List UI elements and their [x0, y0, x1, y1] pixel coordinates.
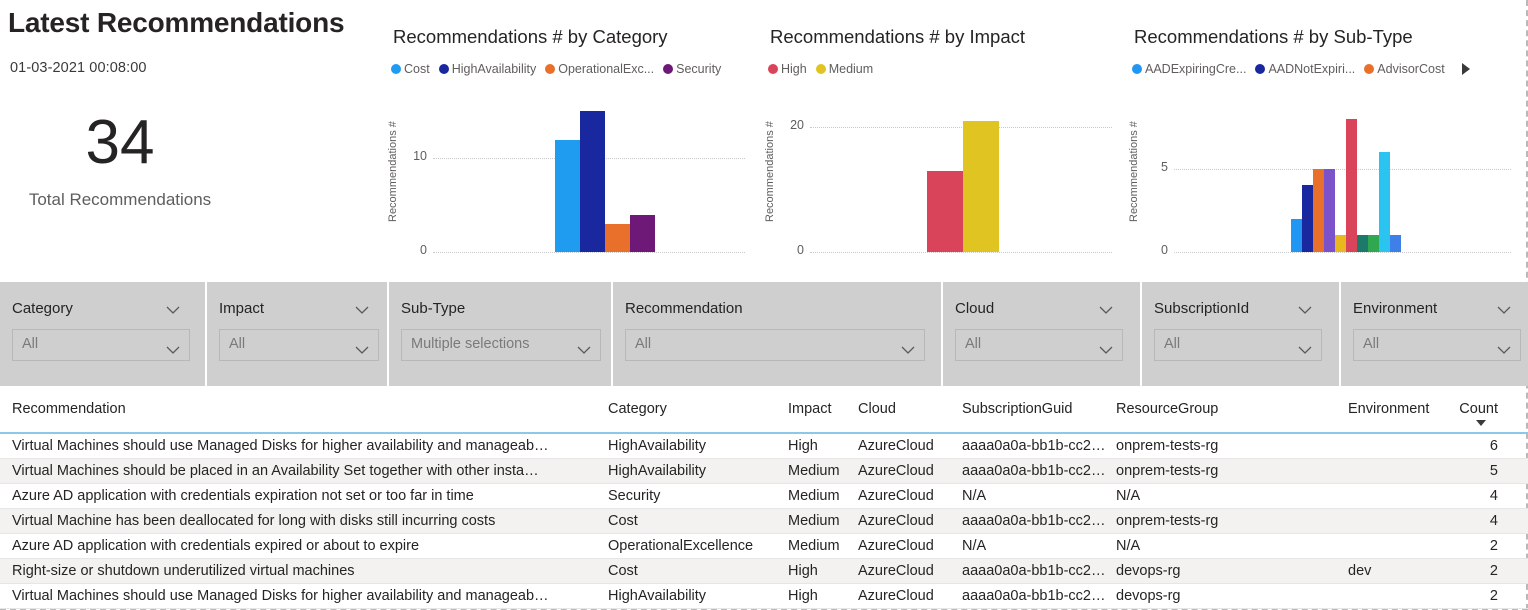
filter-card-category: CategoryAll [0, 282, 205, 386]
cell-count: 4 [1440, 484, 1498, 508]
filter-card-environment: EnvironmentAll [1341, 282, 1528, 386]
y-axis-tick-label: 5 [1138, 160, 1168, 174]
legend-item-label: AADNotExpiri... [1268, 62, 1355, 76]
legend-item[interactable]: HighAvailability [439, 62, 537, 76]
filter-selected-value: All [22, 336, 38, 352]
kpi-card: Latest Recommendations 01-03-2021 00:08:… [0, 0, 385, 280]
legend-swatch-dot-icon [545, 64, 555, 74]
legend-swatch-dot-icon [768, 64, 778, 74]
chart-title: Recommendations # by Category [393, 26, 668, 48]
filter-label: Environment [1353, 300, 1437, 317]
top-visual-band: Latest Recommendations 01-03-2021 00:08:… [0, 0, 1528, 280]
filter-label: Impact [219, 300, 264, 317]
sort-descending-caret-icon [1476, 420, 1486, 426]
legend-item[interactable]: Cost [391, 62, 430, 76]
cell-resource-group: onprem-tests-rg [1116, 509, 1336, 533]
legend-item-label: Cost [404, 62, 430, 76]
gridline [810, 252, 1112, 253]
column-header-environment[interactable]: Environment [1348, 398, 1444, 420]
chevron-down-icon[interactable] [355, 341, 369, 349]
bar[interactable] [1390, 235, 1401, 252]
legend-swatch-dot-icon [1132, 64, 1142, 74]
page-title: Latest Recommendations [8, 7, 344, 39]
chevron-right-icon[interactable] [1462, 63, 1470, 75]
legend-swatch-dot-icon [439, 64, 449, 74]
chevron-down-icon[interactable] [1497, 341, 1511, 349]
filter-dropdown-recommendation[interactable]: All [625, 329, 925, 361]
bar-series [1291, 119, 1401, 252]
y-axis-tick-label: 10 [397, 149, 427, 163]
legend-swatch-dot-icon [1255, 64, 1265, 74]
filter-strip: CategoryAllImpactAllSub-TypeMultiple sel… [0, 282, 1528, 386]
legend-swatch-dot-icon [816, 64, 826, 74]
cell-resource-group: onprem-tests-rg [1116, 434, 1336, 458]
bar[interactable] [1335, 235, 1346, 252]
legend-item[interactable]: AdvisorCost [1364, 62, 1444, 76]
cell-impact: High [788, 559, 852, 583]
bar[interactable] [1313, 169, 1324, 252]
bar[interactable] [963, 121, 999, 252]
filter-label: Recommendation [625, 300, 743, 317]
filter-dropdown-environment[interactable]: All [1353, 329, 1521, 361]
filter-dropdown-category[interactable]: All [12, 329, 190, 361]
column-header-count[interactable]: Count [1440, 398, 1498, 420]
gridline [433, 252, 745, 253]
cell-category: HighAvailability [608, 434, 776, 458]
cell-impact: Medium [788, 509, 852, 533]
cell-recommendation: Virtual Machines should be placed in an … [12, 459, 602, 483]
cell-impact: High [788, 434, 852, 458]
recommendations-table[interactable]: RecommendationCategoryImpactCloudSubscri… [0, 398, 1528, 610]
legend-item-label: High [781, 62, 807, 76]
gridline [1174, 252, 1511, 253]
cell-cloud: AzureCloud [858, 534, 954, 558]
cell-subscription-guid: N/A [962, 484, 1110, 508]
cell-count: 2 [1440, 534, 1498, 558]
report-timestamp: 01-03-2021 00:08:00 [10, 60, 147, 76]
cell-resource-group: devops-rg [1116, 584, 1336, 608]
cell-impact: High [788, 584, 852, 608]
cell-category: HighAvailability [608, 584, 776, 608]
cell-count: 2 [1440, 584, 1498, 608]
chevron-down-icon[interactable] [1298, 306, 1312, 314]
cell-subscription-guid: aaaa0a0a-bb1b-cc2c… [962, 509, 1110, 533]
bar[interactable] [630, 215, 655, 253]
bar[interactable] [555, 140, 580, 253]
column-header-recommendation[interactable]: Recommendation [12, 398, 602, 420]
cell-subscription-guid: aaaa0a0a-bb1b-cc2c… [962, 584, 1110, 608]
legend-item-label: AdvisorCost [1377, 62, 1444, 76]
legend-swatch-dot-icon [391, 64, 401, 74]
filter-dropdown-sub-type[interactable]: Multiple selections [401, 329, 601, 361]
legend-item[interactable]: AADExpiringCre... [1132, 62, 1246, 76]
cell-subscription-guid: aaaa0a0a-bb1b-cc2c… [962, 459, 1110, 483]
legend-item-label: Security [676, 62, 721, 76]
cell-resource-group: N/A [1116, 484, 1336, 508]
bar-series [555, 111, 655, 252]
chevron-down-icon[interactable] [1099, 341, 1113, 349]
cell-count: 6 [1440, 434, 1498, 458]
bar[interactable] [580, 111, 605, 252]
chart-recommendations-by-subtype[interactable]: Recommendations # by Sub-Type AADExpirin… [1126, 0, 1526, 280]
cell-category: OperationalExcellence [608, 534, 776, 558]
chevron-down-icon[interactable] [1298, 341, 1312, 349]
bar[interactable] [1346, 119, 1357, 252]
cell-count: 2 [1440, 559, 1498, 583]
filter-card-impact: ImpactAll [207, 282, 387, 386]
filter-selected-value: All [1164, 336, 1180, 352]
column-header-resourcegroup[interactable]: ResourceGroup [1116, 398, 1336, 420]
legend-swatch-dot-icon [663, 64, 673, 74]
bar[interactable] [1291, 219, 1302, 252]
filter-selected-value: All [1363, 336, 1379, 352]
chart-recommendations-by-impact[interactable]: Recommendations # by Impact HighMedium R… [762, 0, 1124, 280]
chart-plot-area: Recommendations #05 [1126, 92, 1526, 260]
cell-recommendation: Virtual Machines should use Managed Disk… [12, 434, 602, 458]
filter-selected-value: Multiple selections [411, 336, 529, 352]
cell-resource-group: onprem-tests-rg [1116, 459, 1336, 483]
table-header-row: RecommendationCategoryImpactCloudSubscri… [0, 398, 1528, 434]
table-row[interactable]: Virtual Machines should use Managed Disk… [0, 434, 1528, 459]
cell-cloud: AzureCloud [858, 559, 954, 583]
legend-swatch-dot-icon [1364, 64, 1374, 74]
chart-legend[interactable]: HighMedium [768, 62, 882, 76]
chevron-down-icon[interactable] [355, 306, 369, 314]
cell-cloud: AzureCloud [858, 509, 954, 533]
cell-cloud: AzureCloud [858, 584, 954, 608]
cell-recommendation: Virtual Machine has been deallocated for… [12, 509, 602, 533]
bar-series [927, 121, 999, 252]
cell-category: HighAvailability [608, 459, 776, 483]
filter-card-recommendation: RecommendationAll [613, 282, 941, 386]
column-header-impact[interactable]: Impact [788, 398, 852, 420]
bar[interactable] [1379, 152, 1390, 252]
chevron-down-icon[interactable] [166, 341, 180, 349]
cell-cloud: AzureCloud [858, 434, 954, 458]
legend-item-label: HighAvailability [452, 62, 537, 76]
bar[interactable] [927, 171, 963, 252]
report-page: Latest Recommendations 01-03-2021 00:08:… [0, 0, 1528, 610]
bar[interactable] [1324, 169, 1335, 252]
table-row[interactable]: Virtual Machine has been deallocated for… [0, 509, 1528, 534]
table-row[interactable]: Azure AD application with credentials ex… [0, 484, 1528, 509]
column-header-subscriptionguid[interactable]: SubscriptionGuid [962, 398, 1110, 420]
legend-item-label: AADExpiringCre... [1145, 62, 1246, 76]
filter-dropdown-impact[interactable]: All [219, 329, 379, 361]
total-recommendations-label: Total Recommendations [0, 190, 240, 210]
chart-legend[interactable]: CostHighAvailabilityOperationalExc...Sec… [391, 62, 730, 76]
cell-impact: Medium [788, 484, 852, 508]
legend-item[interactable]: Security [663, 62, 721, 76]
y-axis-tick-label: 0 [397, 243, 427, 257]
table-row[interactable]: Virtual Machines should use Managed Disk… [0, 584, 1528, 609]
filter-label: Cloud [955, 300, 994, 317]
column-header-cloud[interactable]: Cloud [858, 398, 954, 420]
chevron-down-icon[interactable] [1497, 306, 1511, 314]
legend-item-label: OperationalExc... [558, 62, 654, 76]
filter-label: Category [12, 300, 73, 317]
cell-category: Cost [608, 559, 776, 583]
y-axis-tick-label: 0 [774, 243, 804, 257]
cell-subscription-guid: N/A [962, 534, 1110, 558]
chart-title: Recommendations # by Impact [770, 26, 1025, 48]
column-header-category[interactable]: Category [608, 398, 776, 420]
chevron-down-icon[interactable] [1099, 306, 1113, 314]
bar[interactable] [1368, 235, 1379, 252]
legend-item[interactable]: Medium [816, 62, 873, 76]
filter-card-sub-type: Sub-TypeMultiple selections [389, 282, 611, 386]
y-axis-tick-label: 20 [774, 118, 804, 132]
cell-category: Security [608, 484, 776, 508]
legend-item[interactable]: AADNotExpiri... [1255, 62, 1355, 76]
cell-count: 5 [1440, 459, 1498, 483]
cell-category: Cost [608, 509, 776, 533]
cell-recommendation: Right-size or shutdown underutilized vir… [12, 559, 602, 583]
filter-selected-value: All [229, 336, 245, 352]
cell-subscription-guid: aaaa0a0a-bb1b-cc2c… [962, 559, 1110, 583]
table-row[interactable]: Azure AD application with credentials ex… [0, 534, 1528, 559]
filter-label: SubscriptionId [1154, 300, 1249, 317]
filter-label: Sub-Type [401, 300, 465, 317]
legend-item[interactable]: OperationalExc... [545, 62, 654, 76]
bar[interactable] [1357, 235, 1368, 252]
chart-title: Recommendations # by Sub-Type [1134, 26, 1413, 48]
legend-item[interactable]: High [768, 62, 807, 76]
chart-legend[interactable]: AADExpiringCre...AADNotExpiri...AdvisorC… [1132, 62, 1470, 76]
chevron-down-icon[interactable] [577, 341, 591, 349]
bar[interactable] [1302, 185, 1313, 252]
chart-plot-area: Recommendations #020 [762, 92, 1124, 260]
y-axis-tick-label: 0 [1138, 243, 1168, 257]
cell-recommendation: Azure AD application with credentials ex… [12, 534, 602, 558]
bar[interactable] [605, 224, 630, 252]
chart-plot-area: Recommendations #010 [385, 92, 760, 260]
cell-cloud: AzureCloud [858, 484, 954, 508]
filter-dropdown-cloud[interactable]: All [955, 329, 1123, 361]
cell-recommendation: Virtual Machines should use Managed Disk… [12, 584, 602, 608]
table-row[interactable]: Right-size or shutdown underutilized vir… [0, 559, 1528, 584]
chart-recommendations-by-category[interactable]: Recommendations # by Category CostHighAv… [385, 0, 760, 280]
cell-impact: Medium [788, 459, 852, 483]
filter-card-cloud: CloudAll [943, 282, 1140, 386]
cell-impact: Medium [788, 534, 852, 558]
chevron-down-icon[interactable] [901, 341, 915, 349]
table-row[interactable]: Virtual Machines should be placed in an … [0, 459, 1528, 484]
filter-selected-value: All [965, 336, 981, 352]
chevron-down-icon[interactable] [166, 306, 180, 314]
filter-card-subscriptionid: SubscriptionIdAll [1142, 282, 1339, 386]
cell-resource-group: N/A [1116, 534, 1336, 558]
cell-recommendation: Azure AD application with credentials ex… [12, 484, 602, 508]
filter-selected-value: All [635, 336, 651, 352]
total-recommendations-value: 34 [0, 112, 240, 174]
legend-item-label: Medium [829, 62, 873, 76]
filter-dropdown-subscriptionid[interactable]: All [1154, 329, 1322, 361]
cell-resource-group: devops-rg [1116, 559, 1336, 583]
cell-cloud: AzureCloud [858, 459, 954, 483]
cell-environment: dev [1348, 559, 1444, 583]
cell-count: 4 [1440, 509, 1498, 533]
cell-subscription-guid: aaaa0a0a-bb1b-cc2c… [962, 434, 1110, 458]
